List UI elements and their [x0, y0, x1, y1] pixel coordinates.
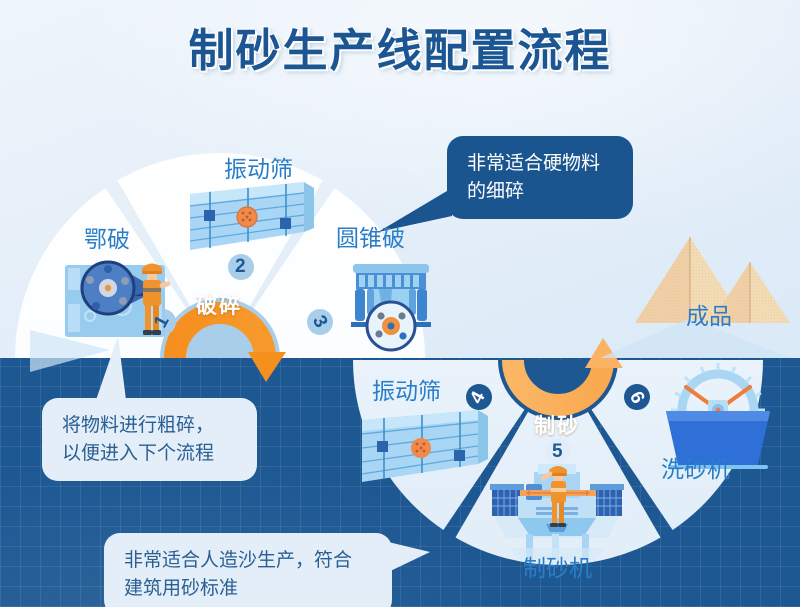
vibrating-screen-icon-top	[190, 182, 314, 250]
label-cone-crusher: 圆锥破	[336, 219, 405, 253]
label-vibrating-screen-top: 振动筛	[224, 150, 293, 184]
crushing-arrow-head	[248, 352, 286, 382]
hub-label-crushing: 破碎	[196, 290, 242, 320]
callout-jaw-crusher: 将物料进行粗碎， 以便进入下个流程	[42, 398, 257, 481]
step-number-5: 5	[552, 441, 563, 463]
callout-cone-crusher: 非常适合硬物料 的细碎	[447, 136, 633, 219]
label-sand-maker: 制砂机	[523, 549, 592, 583]
step-number-2: 2	[235, 256, 246, 278]
label-jaw-crusher: 鄂破	[84, 220, 130, 254]
label-vibrating-screen-bottom: 振动筛	[372, 372, 441, 406]
infographic-canvas: 制砂生产线配置流程	[0, 0, 800, 607]
callout-sand-maker: 非常适合人造沙生产，符合 建筑用砂标准	[104, 533, 392, 607]
label-sand-washer: 洗砂机	[661, 450, 730, 484]
hub-label-sandmaking: 制砂	[534, 410, 580, 440]
illustration-layer	[0, 0, 800, 607]
label-finished-product: 成品	[686, 297, 732, 331]
